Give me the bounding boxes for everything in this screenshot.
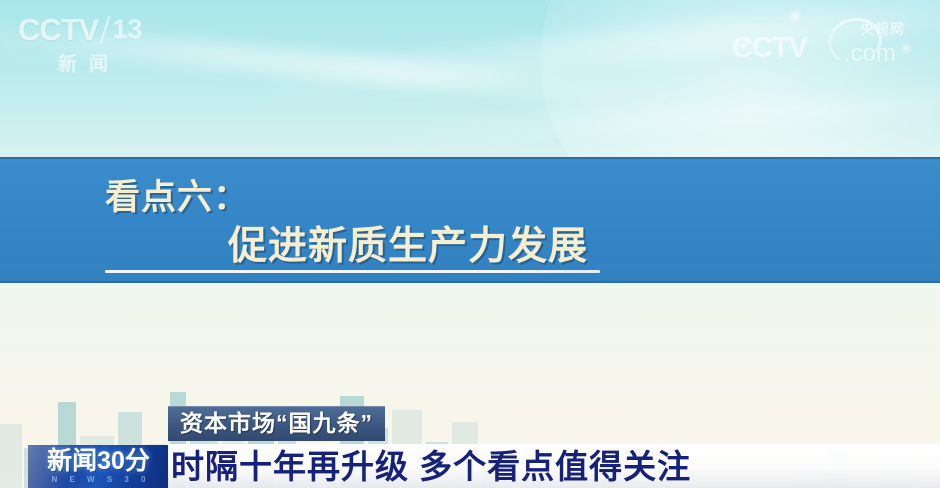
light-streak <box>380 86 940 145</box>
slash-icon <box>100 16 111 44</box>
watermark-cctv: CCTV <box>732 34 807 63</box>
watermark-domain: .com <box>844 42 896 66</box>
channel-logo: CCTV 13 新闻 <box>18 14 148 76</box>
channel-logo-row: CCTV 13 <box>18 14 148 45</box>
broadcast-screen: CCTV 13 新闻 CCTV 央视网 .com 看点六： 促进新质生产力发展 <box>0 0 940 488</box>
program-logo-subtitle: N E W S 3 0 <box>36 476 161 484</box>
site-watermark: CCTV 央视网 .com <box>732 12 922 72</box>
channel-number: 13 <box>112 16 142 43</box>
headline-text: 时隔十年再升级 多个看点值得关注 <box>168 450 691 483</box>
cctv-wordmark: CCTV <box>18 14 98 45</box>
watermark-cn-name: 央视网 <box>860 22 905 36</box>
headline-bar: 时隔十年再升级 多个看点值得关注 <box>168 444 940 488</box>
banner-headline-secondary: 促进新质生产力发展 <box>228 215 588 271</box>
program-logo-title: 新闻30分 <box>36 449 161 474</box>
topic-kicker-text: 资本市场“国九条” <box>180 412 373 435</box>
banner-headline-primary: 看点六： <box>105 169 249 220</box>
banner-underline <box>105 270 600 273</box>
lower-third: 新闻30分 N E W S 3 0 资本市场“国九条” 时隔十年再升级 多个看点… <box>0 400 940 488</box>
topic-kicker-bar: 资本市场“国九条” <box>168 406 385 441</box>
topic-banner: 看点六： 促进新质生产力发展 <box>0 157 940 283</box>
channel-subtitle: 新闻 <box>18 49 148 76</box>
program-logo: 新闻30分 N E W S 3 0 <box>28 445 169 488</box>
